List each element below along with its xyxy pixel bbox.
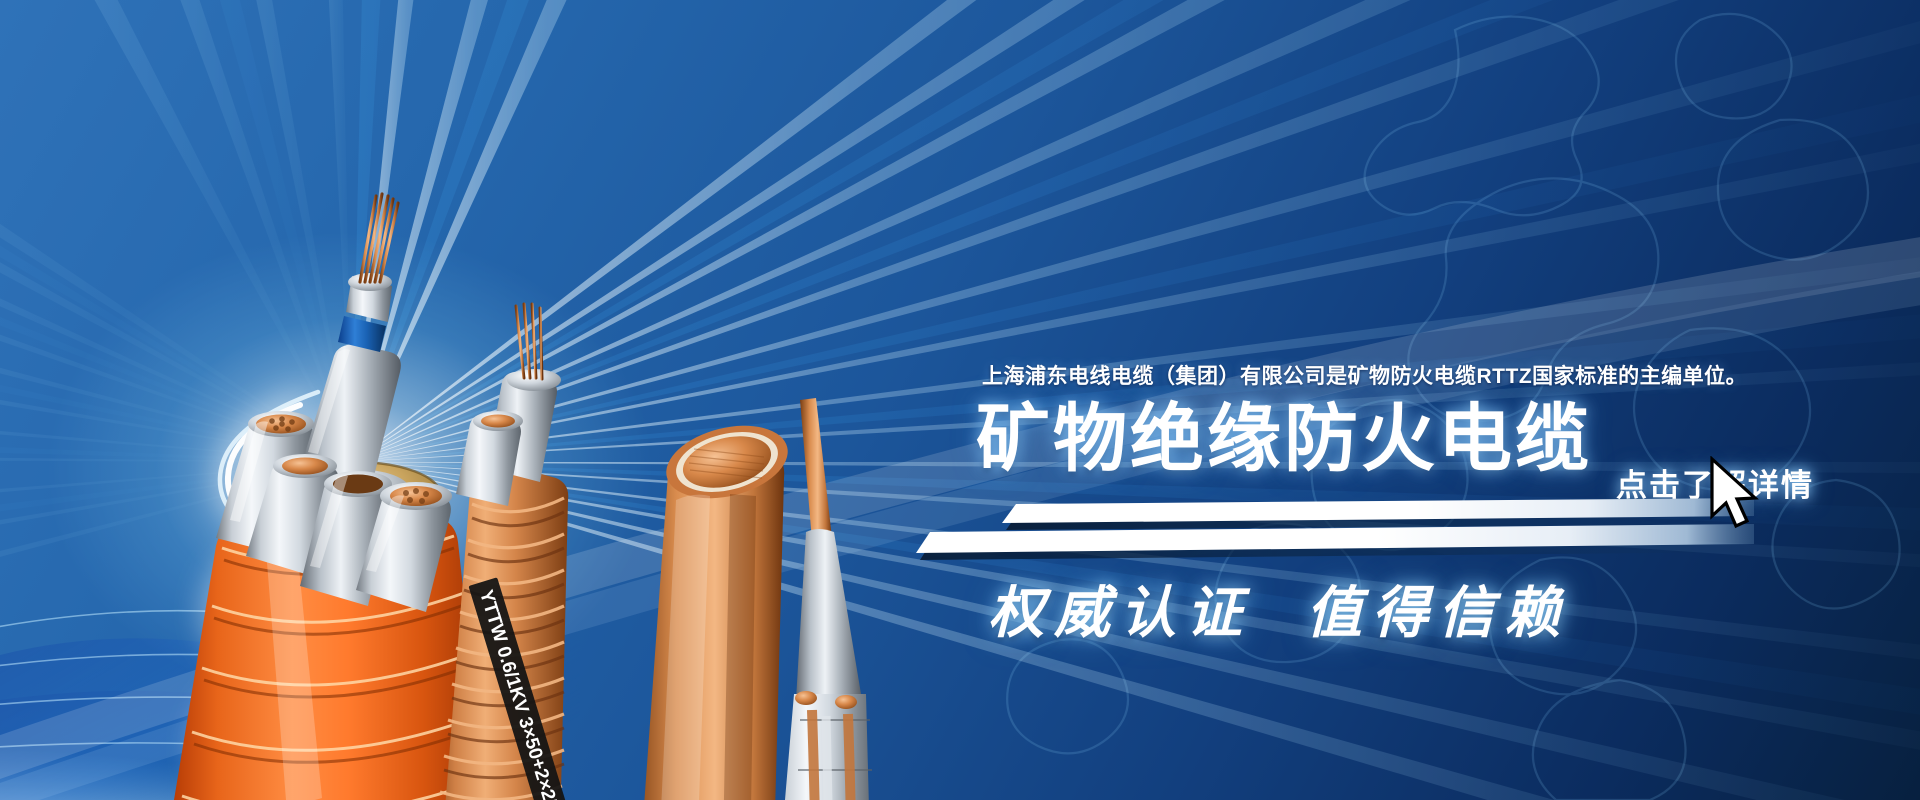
- page-title: 矿物绝缘防火电缆: [976, 402, 1592, 476]
- tagline: 上海浦东电线电缆（集团）有限公司是矿物防火电缆RTTZ国家标准的主编单位。: [982, 360, 1747, 390]
- slogan-left: 权威认证: [988, 583, 1252, 645]
- cable-product-illustration: YTTW 0.6/1KV 3×50+2×25: [0, 0, 1000, 800]
- double-slant-bars-icon: [894, 498, 1754, 560]
- silver-conductor-center-tall: [300, 194, 401, 492]
- mouse-pointer-arrow-icon: [1706, 456, 1762, 534]
- solid-copper-cable: [630, 414, 795, 800]
- slogan-right: 值得信赖: [1306, 583, 1570, 645]
- slogan: 权威认证值得信赖: [988, 568, 1570, 649]
- hero-banner: YTTW 0.6/1KV 3×50+2×25: [0, 0, 1920, 800]
